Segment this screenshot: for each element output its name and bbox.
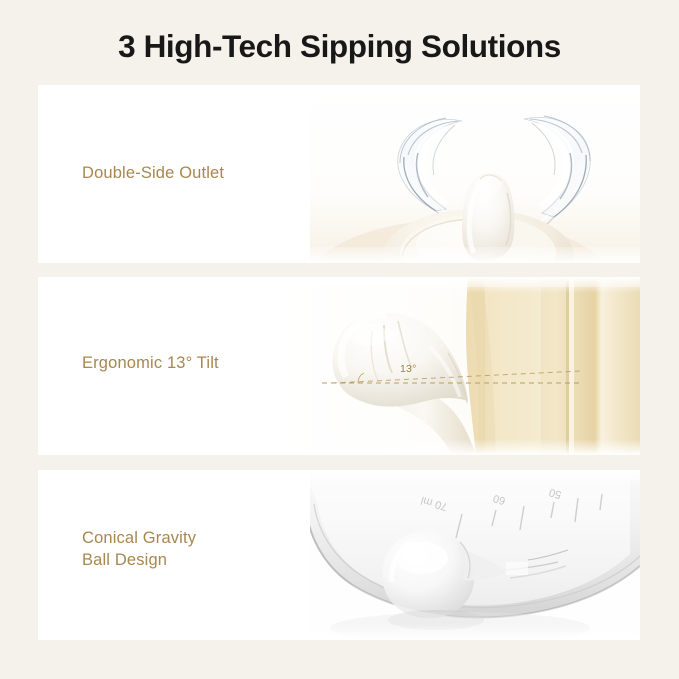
tilt-angle-annotation: 13° (400, 363, 416, 375)
gravity-ball-bottle-photo: 70 ml 60 50 (310, 470, 640, 640)
feature-card-gravity-ball: 70 ml 60 50 (38, 470, 640, 640)
feature-label-gravity-ball: Conical Gravity Ball Design (82, 528, 196, 572)
bottle-nipple-double-stream-photo (310, 85, 640, 263)
feature-label-ergonomic-tilt: Ergonomic 13° Tilt (82, 353, 219, 375)
tilted-nipple-angle-photo (280, 277, 640, 455)
feature-label-double-side-outlet: Double-Side Outlet (82, 163, 224, 185)
feature-card-ergonomic-tilt: 13° Ergonomic 13° Tilt (38, 277, 640, 455)
infographic-page: 3 High-Tech Sipping Solutions (0, 0, 679, 679)
page-title: 3 High-Tech Sipping Solutions (0, 28, 679, 65)
feature-card-double-side-outlet: Double-Side Outlet (38, 85, 640, 263)
